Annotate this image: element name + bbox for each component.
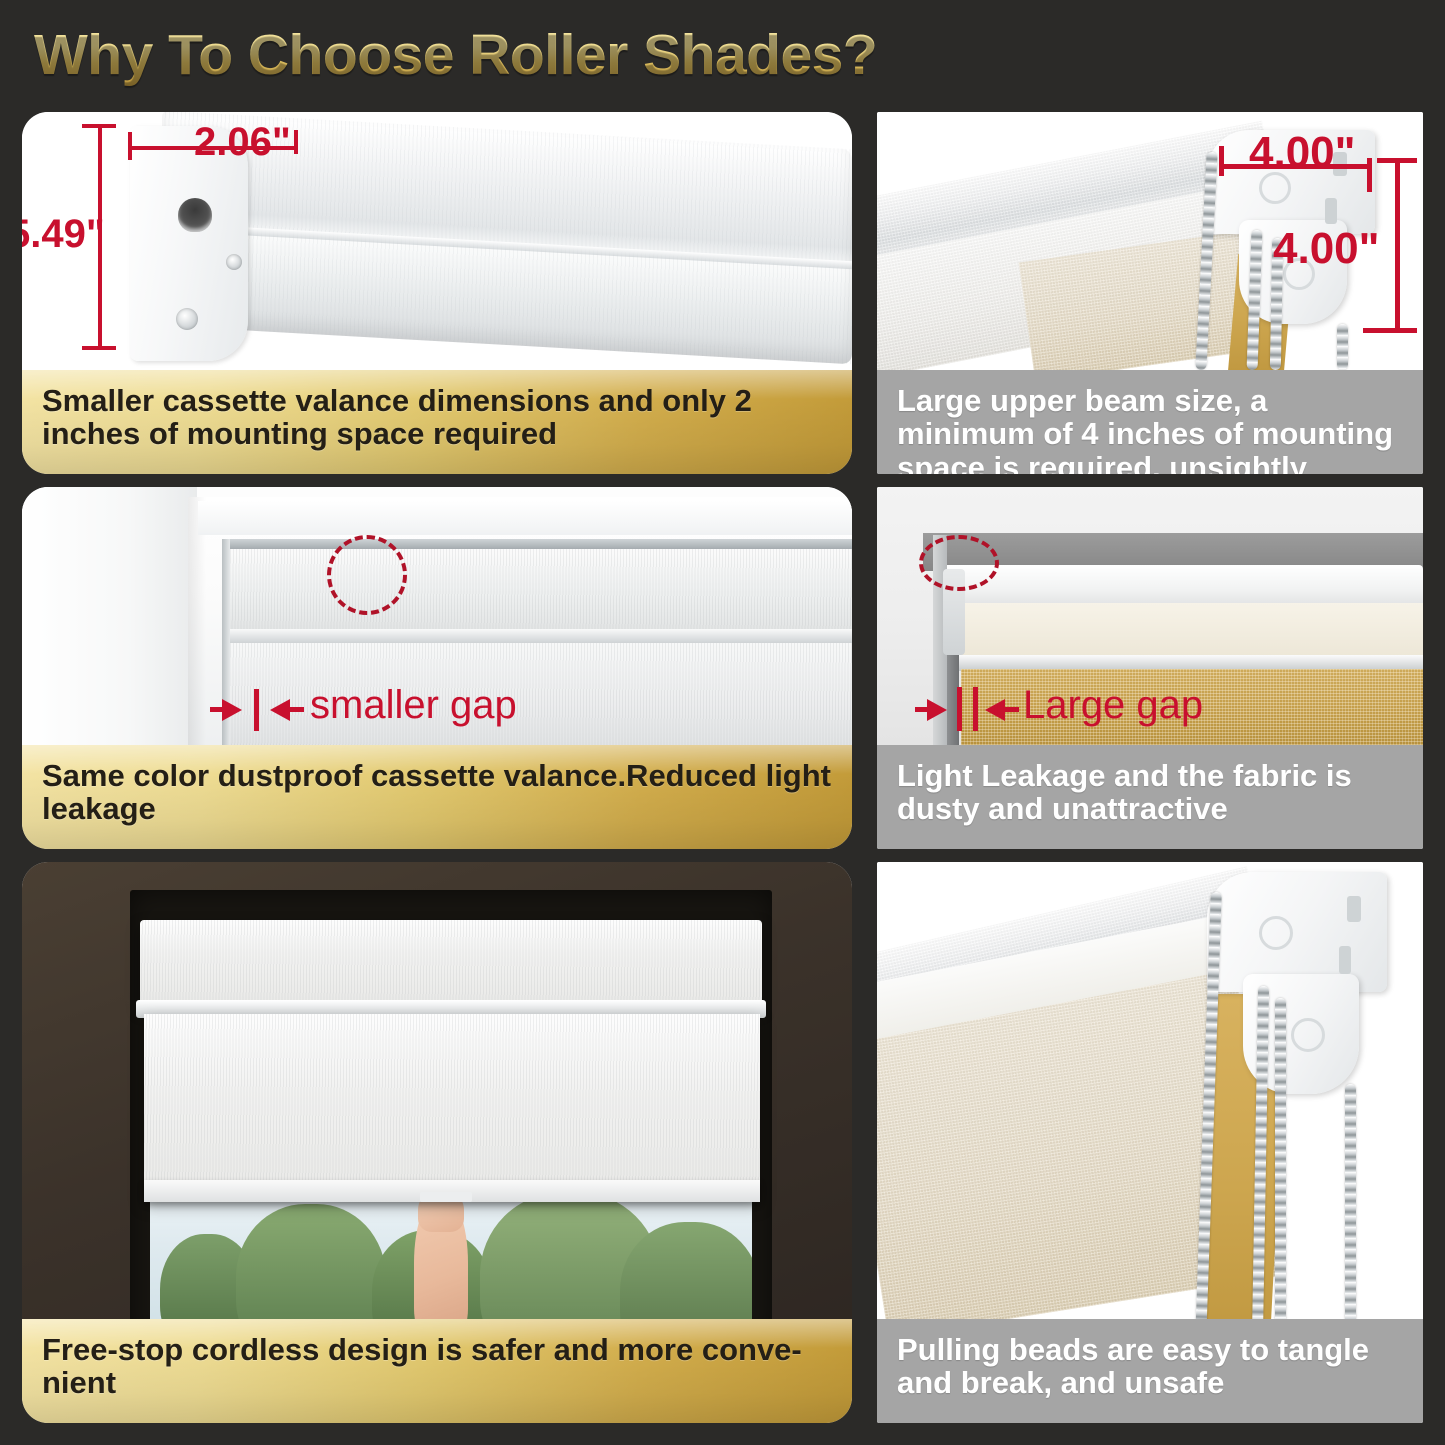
window-casing-outer [22, 487, 197, 745]
valance-texture [140, 920, 762, 1006]
gap-arrow-right-shaft [288, 707, 304, 712]
gap-measure-bar [254, 689, 259, 731]
page-title: Why To Choose Roller Shades? [34, 22, 877, 88]
highlight-circle [327, 535, 407, 615]
gap-arrow-left-shaft [210, 707, 226, 712]
bead-chain [1337, 324, 1348, 370]
panel-6-caption: Pulling beads are easy to tangle and bre… [877, 1319, 1423, 1423]
beam-height-dim-line [1395, 160, 1400, 332]
beam-height-label: 4.00" [1273, 224, 1380, 274]
bottom-rail-tab [420, 1192, 472, 1202]
panel-4-photo: Large gap [877, 487, 1423, 745]
bracket-slot-icon [1325, 198, 1337, 224]
width-dimension-label: 2.06" [194, 120, 291, 165]
panel-light-leakage: Large gap Light Leakage and the fabric i… [877, 487, 1423, 849]
panel-5-photo [22, 862, 852, 1339]
width-dim-tick-left [128, 132, 132, 160]
screw-icon [226, 254, 242, 270]
bead-chain [1345, 1084, 1356, 1339]
beam-height-tick-top [1377, 158, 1417, 163]
panel-dustproof-valance: smaller gap Same color dustproof cassett… [22, 487, 852, 849]
bracket-slot-icon [1347, 896, 1361, 922]
gap-measure-bar-2 [973, 687, 978, 731]
casing-top-moulding [198, 501, 852, 535]
panel-1-photo: 2.06" 5.49" [22, 112, 852, 370]
cassette-valance [140, 920, 762, 1006]
gap-arrow-right-icon [270, 699, 290, 721]
bead-chain [1275, 998, 1286, 1339]
height-dim-tick-bottom [82, 346, 116, 350]
bracket-pivot-icon [1259, 916, 1293, 950]
bracket-pivot-icon [1291, 1018, 1325, 1052]
beam-width-tick-right [1367, 158, 1372, 192]
panel-2-caption: Large upper beam size, a minimum of 4 in… [877, 370, 1423, 474]
gap-arrow-left-shaft [915, 707, 931, 712]
height-dimension-label: 5.49" [22, 212, 105, 257]
panel-large-beam: 4.00" 4.00" Large upper beam size, a min… [877, 112, 1423, 474]
beam-height-tick-bottom [1363, 328, 1417, 333]
width-dim-tick-right [294, 130, 298, 154]
panel-4-caption: Light Leakage and the fabric is dusty an… [877, 745, 1423, 849]
gap-measure-bar [957, 687, 962, 731]
screw-icon [176, 308, 198, 330]
panel-2-photo: 4.00" 4.00" [877, 112, 1423, 370]
gap-arrow-right-icon [985, 699, 1005, 721]
fabric-header-band [961, 603, 1423, 661]
panel-smaller-cassette: 2.06" 5.49" Smaller cassette valance dim… [22, 112, 852, 474]
shade-fabric [144, 1014, 760, 1200]
panel-3-photo: smaller gap [22, 487, 852, 745]
large-gap-label: Large gap [1023, 683, 1203, 728]
valance-slot [178, 198, 212, 232]
panel-1-caption: Smaller cassette valance dimensions and … [22, 370, 852, 474]
height-dim-tick-top [82, 124, 116, 128]
panel-pulling-beads: Pulling beads are easy to tangle and bre… [877, 862, 1423, 1423]
smaller-gap-label: smaller gap [310, 683, 517, 728]
shade-texture [228, 549, 852, 631]
panel-cordless-design: Free-stop cordless design is safer and m… [22, 862, 852, 1423]
shade-upper-panel [228, 549, 852, 631]
beam-width-label: 4.00" [1249, 128, 1356, 178]
panel-6-photo [877, 862, 1423, 1339]
highlight-circle [919, 535, 999, 591]
gap-arrow-right-shaft [1003, 707, 1019, 712]
beam-width-tick-left [1219, 146, 1224, 176]
bracket-slot-icon [1339, 946, 1351, 974]
shade-fabric-texture [144, 1014, 760, 1200]
panel-5-caption: Free-stop cordless design is safer and m… [22, 1319, 852, 1423]
panel-3-caption: Same color dustproof cassette valance.Re… [22, 745, 852, 849]
